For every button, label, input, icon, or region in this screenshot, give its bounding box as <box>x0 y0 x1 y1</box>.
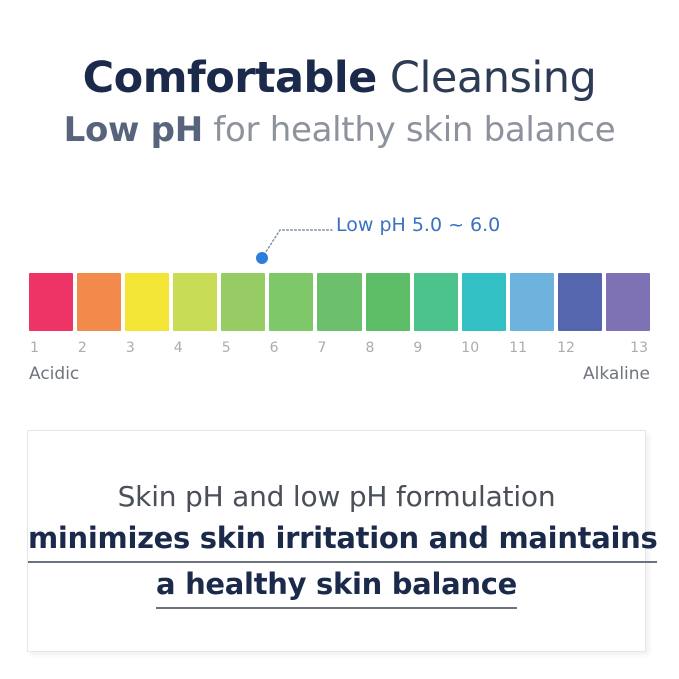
ph-number-10: 10 <box>460 338 504 358</box>
ph-swatch-5 <box>221 273 265 331</box>
ph-number-11: 11 <box>508 338 552 358</box>
ph-number-2: 2 <box>77 338 121 358</box>
statement-line-3-text: a healthy skin balance <box>156 563 517 609</box>
ph-number-5: 5 <box>221 338 265 358</box>
ph-swatch-3 <box>125 273 169 331</box>
ph-swatch-2 <box>77 273 121 331</box>
ph-number-12: 12 <box>556 338 600 358</box>
ph-scale-end-labels: Acidic Alkaline <box>29 362 650 386</box>
statement-box: Skin pH and low pH formulation minimizes… <box>27 430 646 652</box>
heading-block: Comfortable Cleansing Low pH for healthy… <box>0 52 679 152</box>
subtitle-strong-text: Low pH <box>64 110 203 150</box>
page-title: Comfortable Cleansing <box>0 52 679 104</box>
ph-number-3: 3 <box>125 338 169 358</box>
subtitle-light-text: for healthy skin balance <box>203 110 616 150</box>
ph-swatch-12 <box>558 273 602 331</box>
ph-swatch-4 <box>173 273 217 331</box>
acidic-label: Acidic <box>29 362 79 386</box>
ph-number-7: 7 <box>317 338 361 358</box>
alkaline-label: Alkaline <box>583 362 650 386</box>
low-ph-annotation-label: Low pH 5.0 ~ 6.0 <box>336 212 500 238</box>
statement-line-2: minimizes skin irritation and maintains <box>28 517 645 563</box>
ph-scale-numbers: 12345678910111213 <box>29 338 650 358</box>
statement-inner: Skin pH and low pH formulation minimizes… <box>28 431 645 609</box>
page-subtitle: Low pH for healthy skin balance <box>0 108 679 152</box>
ph-swatch-1 <box>29 273 73 331</box>
ph-number-6: 6 <box>269 338 313 358</box>
ph-swatch-6 <box>269 273 313 331</box>
ph-swatch-9 <box>414 273 458 331</box>
ph-number-8: 8 <box>364 338 408 358</box>
ph-number-1: 1 <box>29 338 73 358</box>
ph-color-scale <box>29 273 650 331</box>
ph-swatch-11 <box>510 273 554 331</box>
ph-swatch-13 <box>606 273 650 331</box>
ph-swatch-7 <box>317 273 361 331</box>
ph-number-4: 4 <box>173 338 217 358</box>
ph-swatch-10 <box>462 273 506 331</box>
title-strong-text: Comfortable <box>83 53 377 103</box>
title-light-text: Cleansing <box>377 53 597 103</box>
ph-number-9: 9 <box>412 338 456 358</box>
statement-line-3: a healthy skin balance <box>28 563 645 609</box>
dotted-leader-line-icon <box>250 215 350 270</box>
statement-line-2-text: minimizes skin irritation and maintains <box>28 517 657 563</box>
ph-swatch-8 <box>366 273 410 331</box>
ph-number-13: 13 <box>604 338 650 358</box>
ph-infographic-page: Comfortable Cleansing Low pH for healthy… <box>0 0 679 679</box>
blue-dot-marker-icon <box>256 252 268 264</box>
statement-line-1: Skin pH and low pH formulation <box>28 477 645 517</box>
